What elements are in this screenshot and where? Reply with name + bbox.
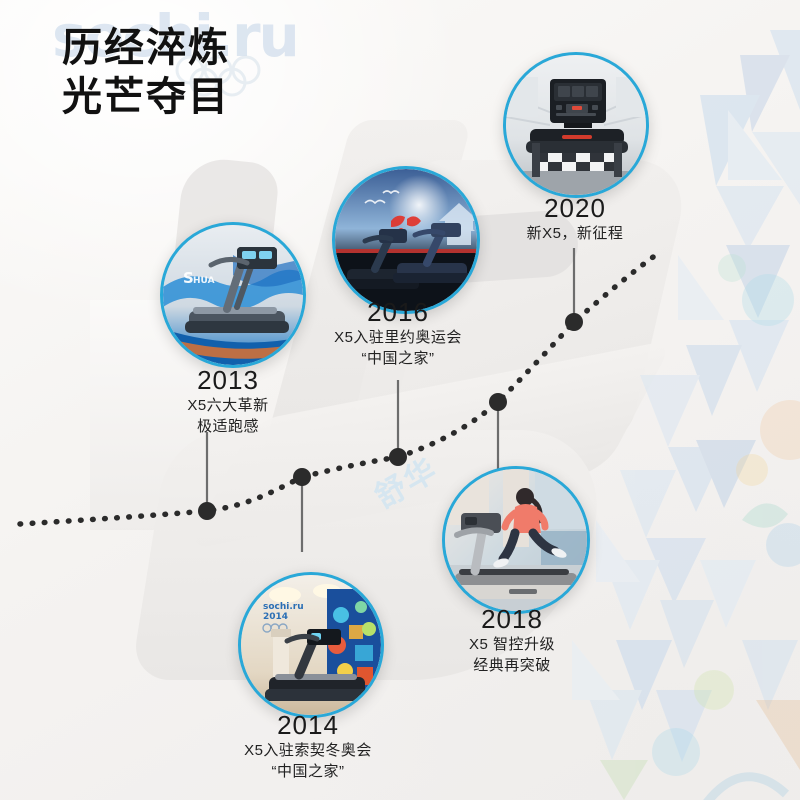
timeline-node-2018[interactable] bbox=[489, 393, 507, 411]
svg-text:HUA: HUA bbox=[193, 276, 215, 286]
milestone-label-2016: 2016 X5入驻里约奥运会 “中国之家” bbox=[288, 298, 508, 370]
timeline-curve bbox=[0, 0, 800, 800]
milestone-desc-2020-line1: 新X5，新征程 bbox=[475, 223, 675, 244]
milestone-desc-2013-line2: 极适跑感 bbox=[128, 416, 328, 437]
milestone-desc-2016-line1: X5入驻里约奥运会 bbox=[288, 327, 508, 348]
svg-text:sochi.ru: sochi.ru bbox=[263, 602, 304, 612]
milestone-desc-2018-line1: X5 智控升级 bbox=[412, 634, 612, 655]
milestone-photo-2018[interactable] bbox=[442, 466, 590, 614]
milestone-photo-2016-inner bbox=[335, 169, 477, 311]
milestone-photo-2016[interactable] bbox=[332, 166, 480, 314]
milestone-photo-2013[interactable]: S HUA bbox=[160, 222, 306, 368]
milestone-year-2013: 2013 bbox=[128, 366, 328, 395]
timeline-node-2016[interactable] bbox=[389, 448, 407, 466]
milestone-label-2013: 2013 X5六大革新 极适跑感 bbox=[128, 366, 328, 438]
milestone-photo-2014[interactable]: sochi.ru 2014 bbox=[238, 572, 384, 718]
milestone-desc-2014-line2: “中国之家” bbox=[198, 761, 418, 782]
milestone-label-2020: 2020 新X5，新征程 bbox=[475, 194, 675, 244]
milestone-photo-2018-inner bbox=[445, 469, 587, 611]
timeline-node-2020[interactable] bbox=[565, 313, 583, 331]
svg-text:2014: 2014 bbox=[263, 612, 288, 622]
timeline-node-2013[interactable] bbox=[198, 502, 216, 520]
milestone-label-2018: 2018 X5 智控升级 经典再突破 bbox=[412, 605, 612, 677]
milestone-desc-2018-line2: 经典再突破 bbox=[412, 655, 612, 676]
milestone-photo-2020-inner bbox=[506, 55, 646, 195]
milestone-year-2016: 2016 bbox=[288, 298, 508, 327]
milestone-year-2014: 2014 bbox=[198, 711, 418, 740]
timeline-node-2014[interactable] bbox=[293, 468, 311, 486]
milestone-label-2014: 2014 X5入驻索契冬奥会 “中国之家” bbox=[198, 711, 418, 783]
milestone-desc-2014-line1: X5入驻索契冬奥会 bbox=[198, 740, 418, 761]
milestone-year-2018: 2018 bbox=[412, 605, 612, 634]
milestone-year-2020: 2020 bbox=[475, 194, 675, 223]
milestone-desc-2013-line1: X5六大革新 bbox=[128, 395, 328, 416]
milestone-photo-2020[interactable] bbox=[503, 52, 649, 198]
milestone-photo-2014-inner: sochi.ru 2014 bbox=[241, 575, 381, 715]
milestone-desc-2016-line2: “中国之家” bbox=[288, 348, 508, 369]
infographic-canvas: sochi.ru 舒华 历经淬炼 光芒夺目 bbox=[0, 0, 800, 800]
milestone-photo-2013-inner: S HUA bbox=[163, 225, 303, 365]
